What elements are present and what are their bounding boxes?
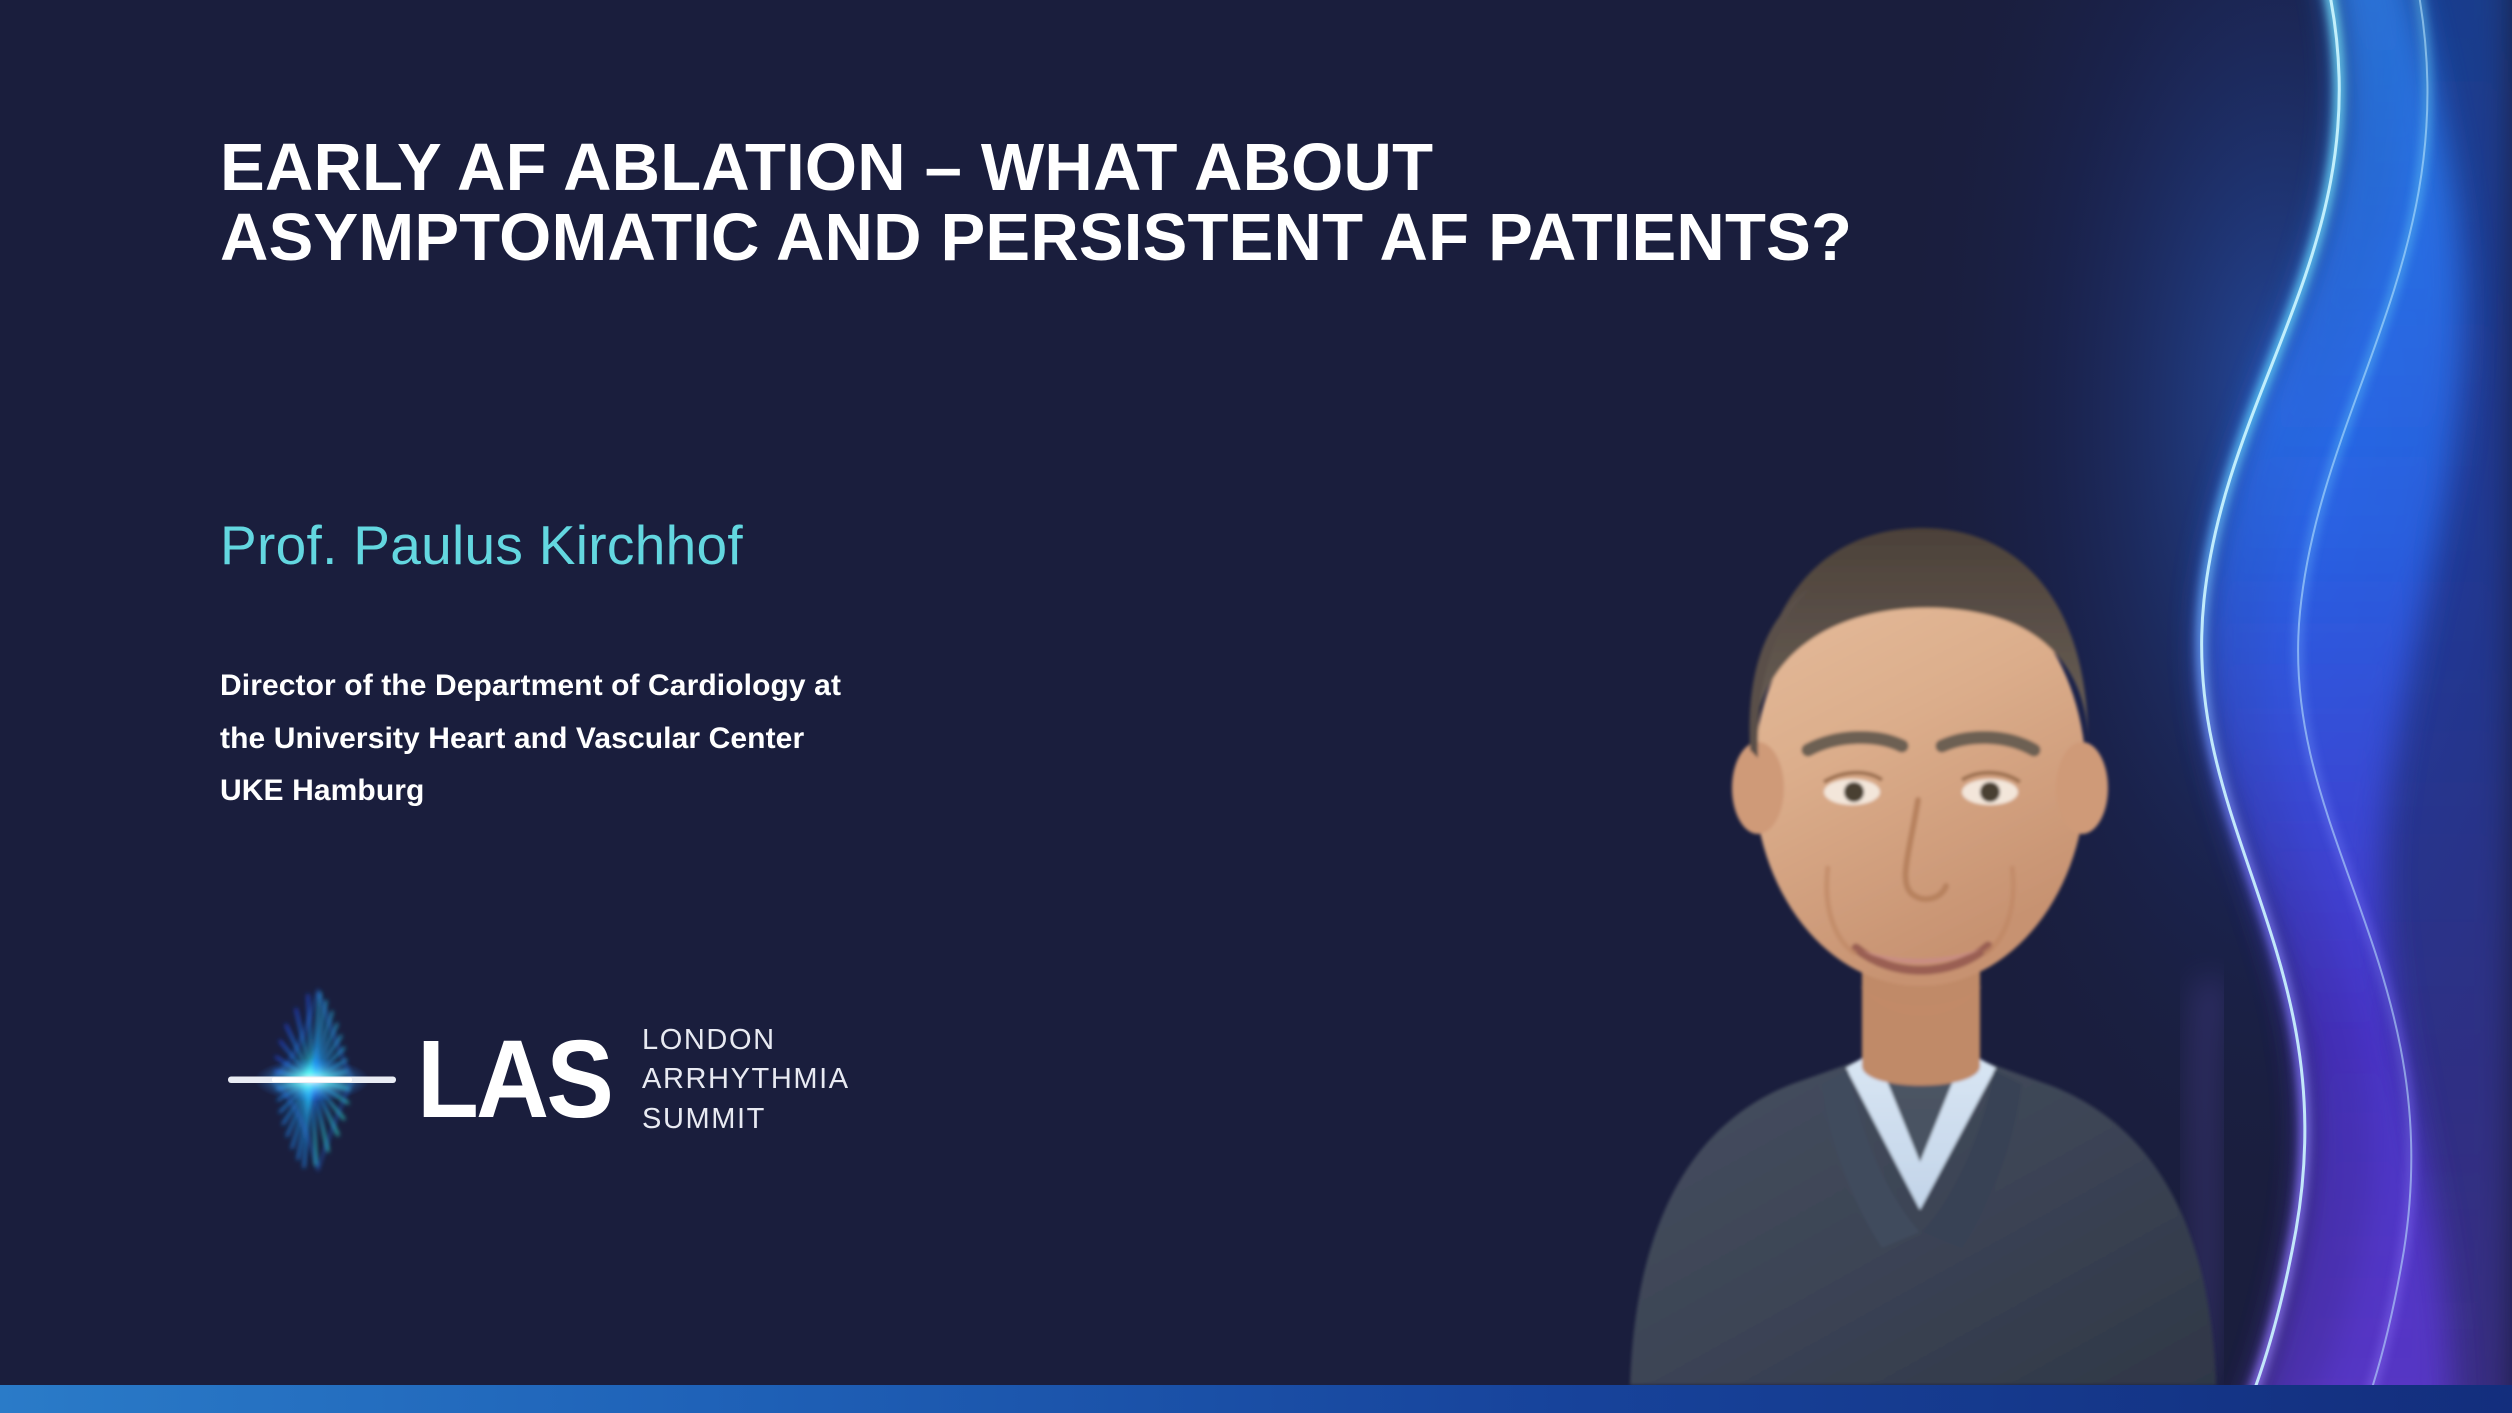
las-spindle-waveform-mark-icon bbox=[220, 985, 405, 1175]
las-wordmark: LAS LONDON ARRHYTHMIA SUMMIT bbox=[417, 1021, 850, 1139]
speaker-role: Director of the Department of Cardiology… bbox=[220, 660, 1180, 818]
slide-content: EARLY AF ABLATION – WHAT ABOUT ASYMPTOMA… bbox=[220, 0, 1940, 1413]
page-title: EARLY AF ABLATION – WHAT ABOUT ASYMPTOMA… bbox=[220, 133, 1920, 272]
speaker-role-line-2: the University Heart and Vascular Center bbox=[220, 713, 1180, 766]
decorative-wave-graphic bbox=[1892, 0, 2512, 1385]
speaker-role-line-1: Director of the Department of Cardiology… bbox=[220, 660, 1180, 713]
las-logo: LAS LONDON ARRHYTHMIA SUMMIT bbox=[220, 985, 850, 1175]
bottom-accent-bar bbox=[0, 1385, 2512, 1413]
las-subtitle-line-1: LONDON bbox=[642, 1021, 850, 1060]
speaker-name: Prof. Paulus Kirchhof bbox=[220, 515, 743, 576]
speaker-role-line-3: UKE Hamburg bbox=[220, 765, 1180, 818]
las-subtitle-line-3: SUMMIT bbox=[642, 1100, 850, 1139]
las-wordmark-text: LAS bbox=[417, 1035, 611, 1125]
las-subtitle: LONDON ARRHYTHMIA SUMMIT bbox=[642, 1021, 850, 1139]
presentation-title-slide: EARLY AF ABLATION – WHAT ABOUT ASYMPTOMA… bbox=[0, 0, 2512, 1413]
las-subtitle-line-2: ARRHYTHMIA bbox=[642, 1060, 850, 1099]
